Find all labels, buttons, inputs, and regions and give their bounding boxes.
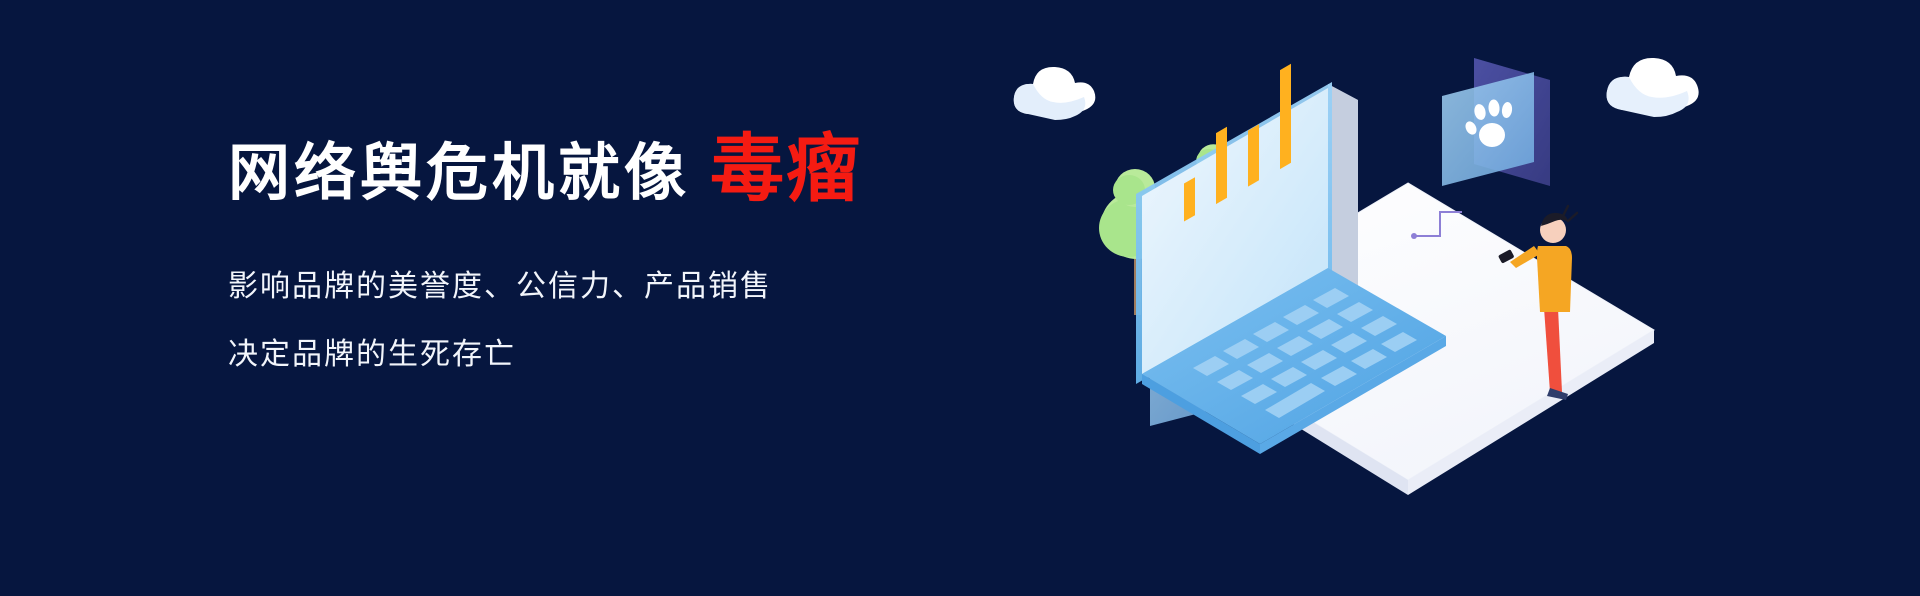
hero-banner: 网络舆危机就像毒瘤 影响品牌的美誉度、公信力、产品销售 决定品牌的生死存亡 [0,0,1920,596]
connector-node [1411,233,1417,239]
person-jacket [1537,246,1572,312]
headline-red-emphasis: 毒瘤 [710,127,862,210]
cloud-left-icon [1014,67,1096,120]
page-title: 网络舆危机就像毒瘤 [228,132,988,206]
paw-print-card [1442,58,1550,186]
isometric-illustration [1010,40,1770,560]
banner-copy: 网络舆危机就像毒瘤 影响品牌的美誉度、公信力、产品销售 决定品牌的生死存亡 [228,132,988,370]
cloud-right-icon [1607,58,1699,117]
subtitle-line-1: 影响品牌的美誉度、公信力、产品销售 [228,272,988,302]
banner-subtitle: 影响品牌的美誉度、公信力、产品销售 决定品牌的生死存亡 [228,272,988,370]
subtitle-line-2: 决定品牌的生死存亡 [228,340,988,370]
headline-white-text: 网络舆危机就像 [228,139,690,208]
